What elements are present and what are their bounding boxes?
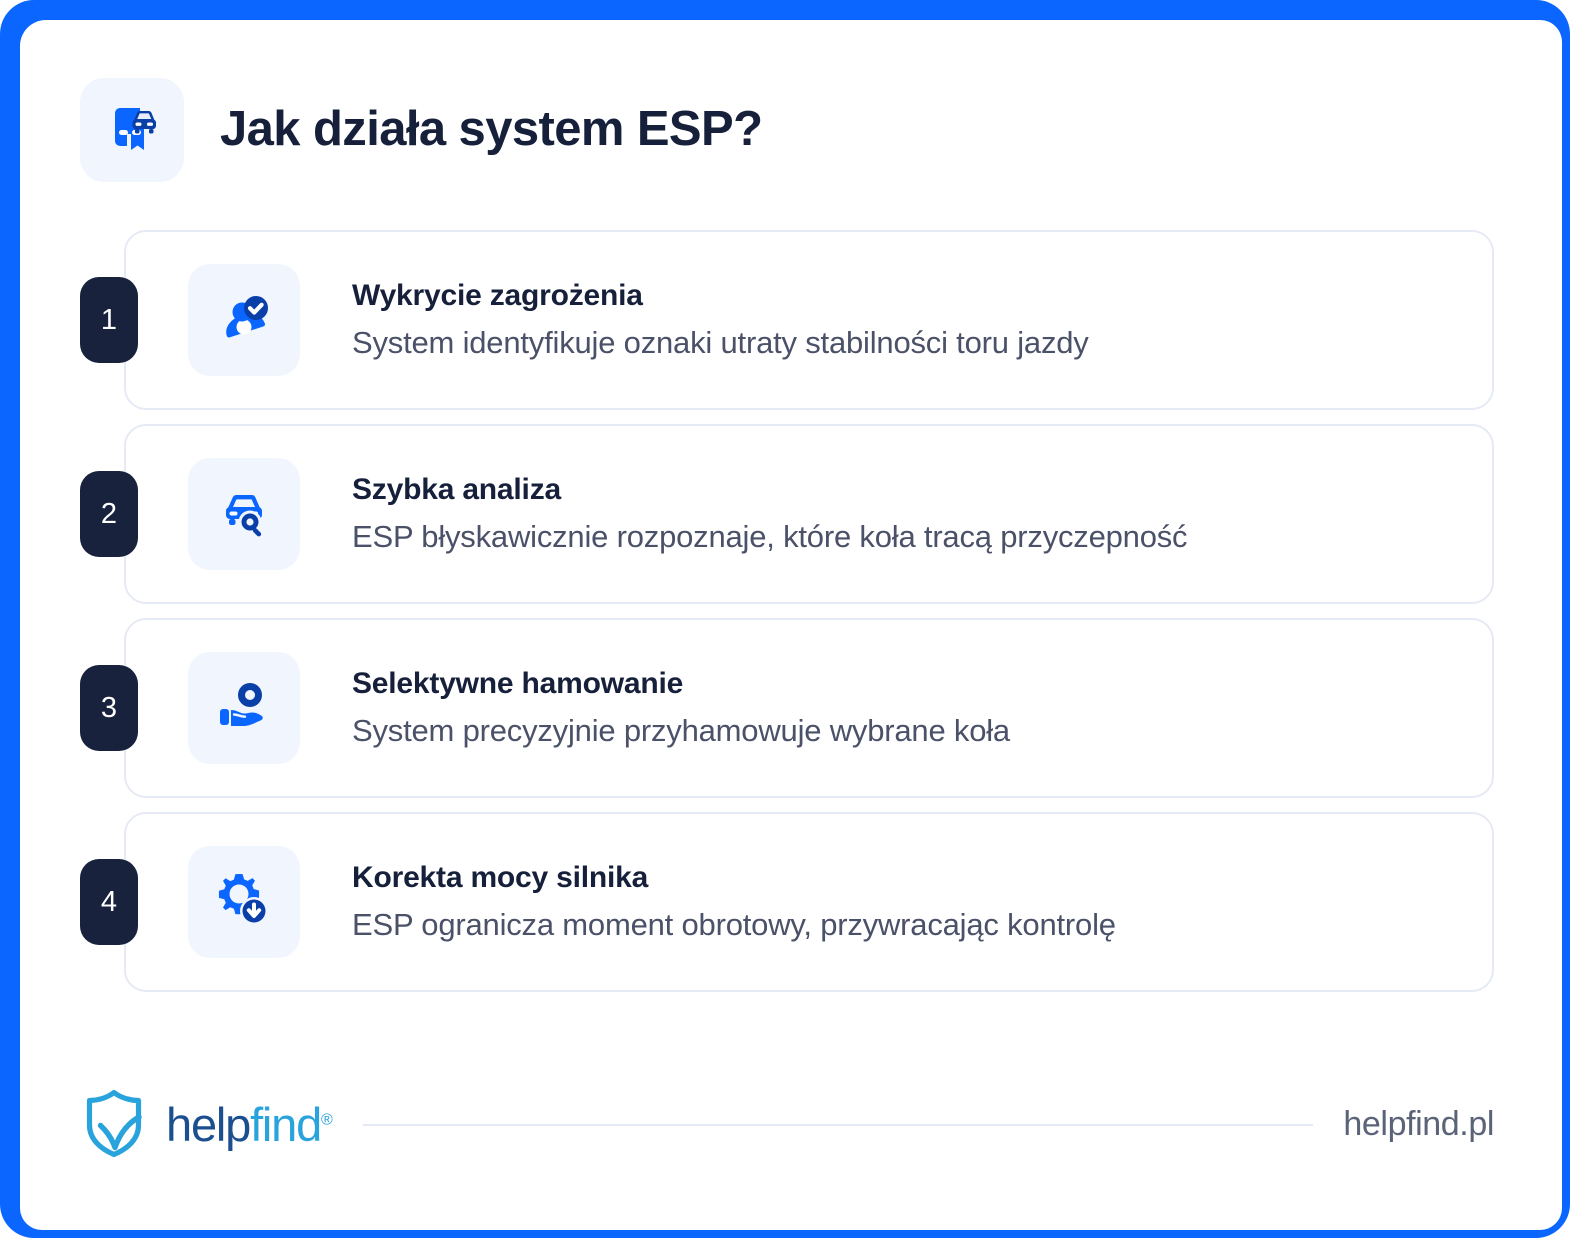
step-text: Korekta mocy silnika ESP ogranicza momen…: [352, 861, 1116, 943]
step-number-badge: 3: [80, 665, 138, 751]
step-icon-tile: [188, 652, 300, 764]
step-icon-tile: [188, 264, 300, 376]
step-title: Korekta mocy silnika: [352, 861, 1116, 895]
step-text: Selektywne hamowanie System precyzyjnie …: [352, 667, 1010, 749]
shield-check-icon: [80, 1083, 152, 1166]
step-card[interactable]: 3 Selektywne h: [124, 618, 1494, 798]
step-card[interactable]: 2: [124, 424, 1494, 604]
step-text: Wykrycie zagrożenia System identyfikuje …: [352, 279, 1089, 361]
step-card[interactable]: 4: [124, 812, 1494, 992]
header: Jak działa system ESP?: [80, 78, 1494, 182]
car-document-icon: [101, 97, 163, 164]
footer: helpfind® helpfind.pl: [80, 1083, 1494, 1166]
header-icon-tile: [80, 78, 184, 182]
hand-holding-coin-icon: [212, 674, 276, 743]
gear-download-icon: [213, 869, 275, 936]
footer-url: helpfind.pl: [1343, 1105, 1494, 1144]
brand-word-help: help: [166, 1098, 250, 1151]
brand-lockup: helpfind®: [80, 1083, 333, 1166]
infographic-canvas: Jak działa system ESP? 1: [0, 0, 1570, 1238]
registered-mark: ®: [321, 1111, 333, 1128]
brand-wordmark: helpfind®: [166, 1101, 333, 1148]
step-description: ESP błyskawicznie rozpoznaje, które koła…: [352, 519, 1187, 555]
step-number-badge: 2: [80, 471, 138, 557]
step-card[interactable]: 1 Wykrycie zag: [124, 230, 1494, 410]
brand-word-find: find: [250, 1098, 321, 1151]
step-title: Selektywne hamowanie: [352, 667, 1010, 701]
user-check-icon: [212, 286, 276, 355]
step-description: System identyfikuje oznaki utraty stabil…: [352, 325, 1089, 361]
steps-list: 1 Wykrycie zag: [80, 230, 1494, 992]
step-icon-tile: [188, 458, 300, 570]
page-title: Jak działa system ESP?: [220, 103, 762, 157]
step-title: Szybka analiza: [352, 473, 1187, 507]
step-title: Wykrycie zagrożenia: [352, 279, 1089, 313]
infographic-surface: Jak działa system ESP? 1: [20, 20, 1562, 1230]
infographic-content: Jak działa system ESP? 1: [20, 20, 1562, 1230]
footer-divider: [363, 1124, 1314, 1126]
step-icon-tile: [188, 846, 300, 958]
step-description: System precyzyjnie przyhamowuje wybrane …: [352, 713, 1010, 749]
step-description: ESP ogranicza moment obrotowy, przywraca…: [352, 907, 1116, 943]
step-number-badge: 4: [80, 859, 138, 945]
car-search-icon: [212, 480, 276, 549]
step-text: Szybka analiza ESP błyskawicznie rozpozn…: [352, 473, 1187, 555]
step-number-badge: 1: [80, 277, 138, 363]
